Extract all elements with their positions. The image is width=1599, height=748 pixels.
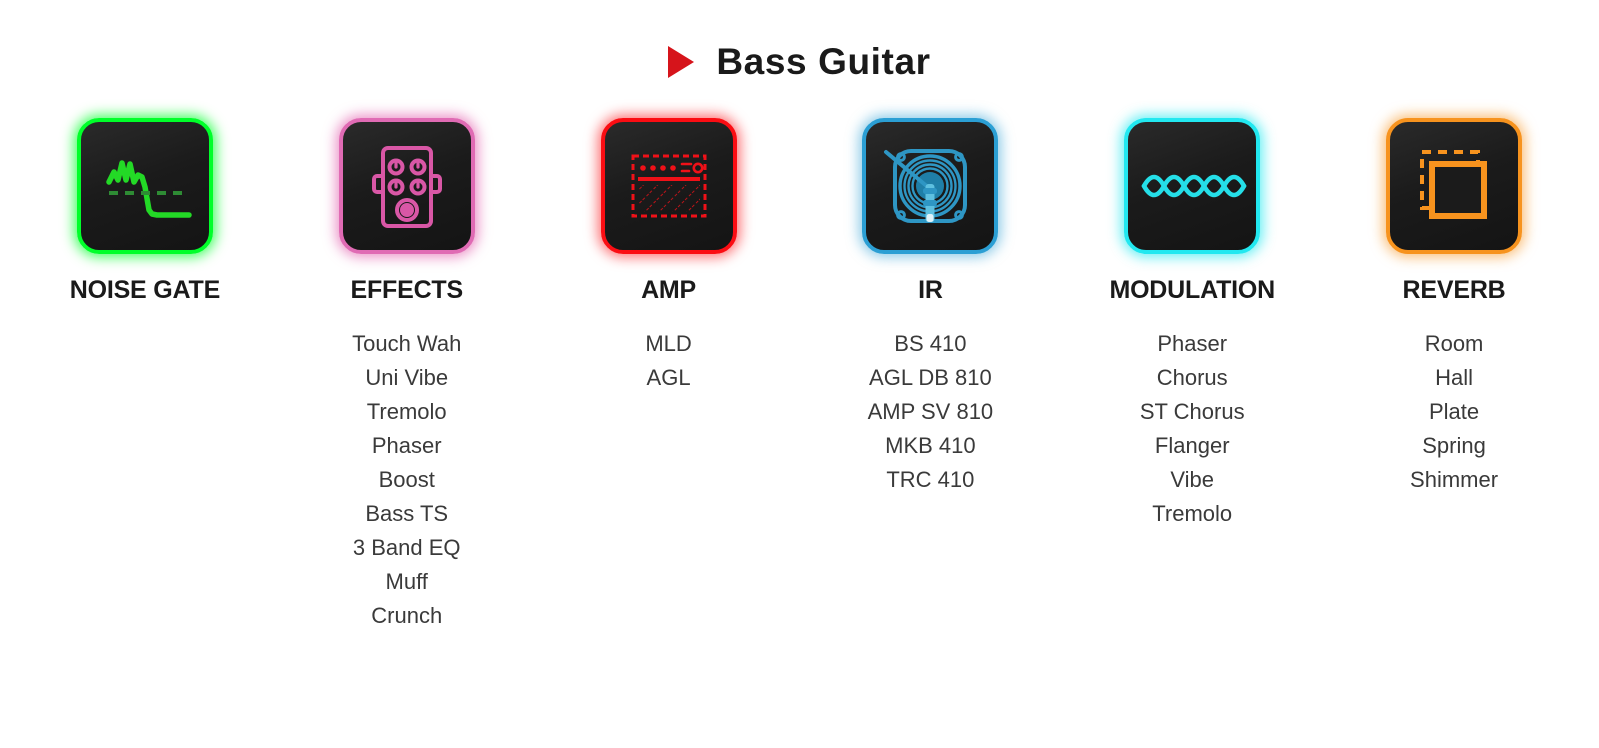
noise-gate-tile[interactable] xyxy=(77,118,213,254)
list-item[interactable]: Vibe xyxy=(1170,463,1214,497)
list-item[interactable]: Phaser xyxy=(372,429,442,463)
module-amp[interactable]: AMP MLD AGL xyxy=(538,118,800,633)
reverb-tile[interactable] xyxy=(1386,118,1522,254)
item-list-ir: BS 410 AGL DB 810 AMP SV 810 MKB 410 TRC… xyxy=(868,327,994,497)
list-item[interactable]: Phaser xyxy=(1157,327,1227,361)
module-label-ir: IR xyxy=(918,276,943,305)
list-item[interactable]: Plate xyxy=(1429,395,1479,429)
ir-tile[interactable] xyxy=(862,118,998,254)
list-item[interactable]: Bass TS xyxy=(365,497,448,531)
list-item[interactable]: AMP SV 810 xyxy=(868,395,994,429)
list-item[interactable]: Muff xyxy=(386,565,428,599)
amplifier-cabinet-icon xyxy=(613,130,725,242)
offset-squares-reverb-icon xyxy=(1398,130,1510,242)
list-item[interactable]: 3 Band EQ xyxy=(353,531,461,565)
list-item[interactable]: Chorus xyxy=(1157,361,1228,395)
module-effects[interactable]: EFFECTS Touch Wah Uni Vibe Tremolo Phase… xyxy=(276,118,538,633)
list-item[interactable]: Room xyxy=(1425,327,1484,361)
module-label-reverb: REVERB xyxy=(1403,276,1506,305)
item-list-amp: MLD AGL xyxy=(645,327,691,395)
signal-chain: NOISE GATE xyxy=(0,118,1599,633)
list-item[interactable]: Boost xyxy=(379,463,435,497)
item-list-modulation: Phaser Chorus ST Chorus Flanger Vibe Tre… xyxy=(1140,327,1245,531)
list-item[interactable]: Tremolo xyxy=(367,395,447,429)
speaker-cone-mic-icon xyxy=(874,130,986,242)
module-reverb[interactable]: REVERB Room Hall Plate Spring Shimmer xyxy=(1323,118,1585,633)
item-list-reverb: Room Hall Plate Spring Shimmer xyxy=(1410,327,1498,497)
list-item[interactable]: ST Chorus xyxy=(1140,395,1245,429)
noise-gate-waveform-icon xyxy=(89,130,201,242)
item-list-effects: Touch Wah Uni Vibe Tremolo Phaser Boost … xyxy=(352,327,461,633)
list-item[interactable]: Uni Vibe xyxy=(365,361,448,395)
list-item[interactable]: Spring xyxy=(1422,429,1486,463)
play-triangle-icon xyxy=(668,46,694,78)
page-title: Bass Guitar xyxy=(716,41,930,83)
list-item[interactable]: Shimmer xyxy=(1410,463,1498,497)
list-item[interactable]: AGL DB 810 xyxy=(869,361,992,395)
list-item[interactable]: AGL xyxy=(647,361,691,395)
module-ir[interactable]: IR BS 410 AGL DB 810 AMP SV 810 MKB 410 … xyxy=(799,118,1061,633)
list-item[interactable]: Flanger xyxy=(1155,429,1230,463)
stompbox-pedal-icon xyxy=(351,130,463,242)
amp-tile[interactable] xyxy=(601,118,737,254)
module-label-amp: AMP xyxy=(641,276,696,305)
module-modulation[interactable]: MODULATION Phaser Chorus ST Chorus Flang… xyxy=(1061,118,1323,633)
list-item[interactable]: Tremolo xyxy=(1152,497,1232,531)
module-noise-gate[interactable]: NOISE GATE xyxy=(14,118,276,633)
list-item[interactable]: MLD xyxy=(645,327,691,361)
effects-tile[interactable] xyxy=(339,118,475,254)
list-item[interactable]: Crunch xyxy=(371,599,442,633)
modulation-tile[interactable] xyxy=(1124,118,1260,254)
module-label-effects: EFFECTS xyxy=(350,276,463,305)
list-item[interactable]: Touch Wah xyxy=(352,327,461,361)
list-item[interactable]: TRC 410 xyxy=(886,463,974,497)
module-label-modulation: MODULATION xyxy=(1109,276,1275,305)
sine-wave-modulation-icon xyxy=(1136,130,1248,242)
list-item[interactable]: BS 410 xyxy=(894,327,966,361)
module-label-noise-gate: NOISE GATE xyxy=(70,276,220,305)
page-header: Bass Guitar xyxy=(0,0,1599,118)
list-item[interactable]: Hall xyxy=(1435,361,1473,395)
list-item[interactable]: MKB 410 xyxy=(885,429,976,463)
